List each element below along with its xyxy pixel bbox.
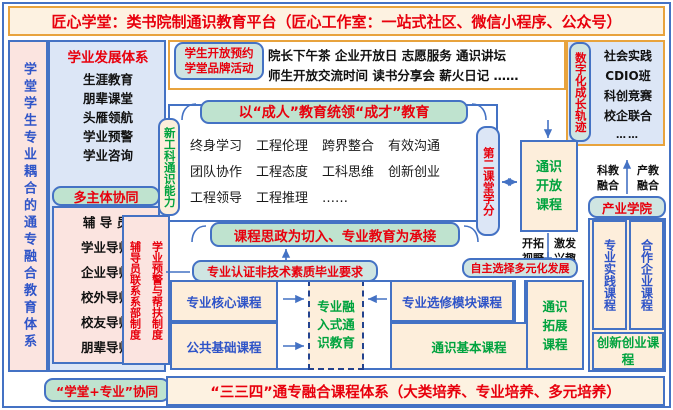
list-item: 学业咨询 [56,146,160,165]
competency-item: 工程推理 [256,186,308,212]
industry-college-col-right-label: 合作企业课程 [641,239,653,311]
footer-title: “三三四”通专融合课程体系（大类培养、专业培养、多元培养） [166,376,665,406]
industry-college-col-left: 专业实践课程 [592,220,627,330]
digital-track-label: 数字化成长轨迹 [574,52,586,133]
competency-row: 工程领导 工程推理 …… [190,186,482,212]
activities-text: 院长下午茶 企业开放日 志愿服务 通识讲坛 师生开放交流时间 读书分享会 薪火日… [268,44,564,88]
page-title: 匠心学堂：类书院制通识教育平台（匠心工作室：一站式社区、微信小程序、公众号） [8,6,665,36]
list-item: 朋辈课堂 [56,89,160,108]
activities-line1: 院长下午茶 企业开放日 志愿服务 通识讲坛 [268,46,506,66]
course-fusion: 专业融入式通识教育 [308,280,364,370]
second-classroom-label: 第二课堂学分 [482,147,494,216]
course-major-core: 专业核心课程 [170,280,278,322]
general-open-course-panel: 通识开放课程 [520,140,578,232]
general-open-course-label: 通识开放课程 [532,158,566,215]
fusion-label-right: 产教融合 [630,162,666,194]
industry-college-bottom: 创新创业课程 [592,332,664,370]
industry-college-bottom-label: 创新创业课程 [594,334,662,368]
arrow-gap-column-right [364,280,390,370]
list-item: 头雁领航 [56,108,160,127]
new-engineering-pill: 新工科通识能力 [158,118,180,216]
mentor-system-right-label-wrap: 学业预警与帮扶制度 [146,217,168,363]
practice-ellipsis: …… [616,126,640,146]
competency-item: 团队协作 [190,160,242,186]
list-item: 社会实践 [604,46,652,66]
course-general-extension: 通识拓展课程 [526,280,584,370]
industry-college-title: 产业学院 [588,196,666,218]
course-general-extension-label: 通识拓展课程 [537,297,573,354]
multi-subject-title: 多主体协同 [52,186,160,206]
list-item: 学业预警 [56,127,160,146]
competency-row: 终身学习 工程伦理 跨界整合 有效沟通 [190,134,482,160]
course-general-basic: 通识基本课程 [390,322,548,370]
competency-grid: 终身学习 工程伦理 跨界整合 有效沟通 团队协作 工程态度 工科思维 创新创业 … [190,130,482,216]
list-item: 科创竞赛 [604,86,652,106]
industry-college-col-right: 合作企业课程 [629,220,664,330]
competency-item: 工程伦理 [256,134,308,160]
competency-item: 有效沟通 [388,134,440,160]
industry-college-col-left-label: 专业实践课程 [604,239,616,311]
mentor-system-right-label: 学业预警与帮扶制度 [152,241,163,340]
practice-list: 社会实践 CDIO班 科创竞赛 校企联合 …… [594,43,662,143]
competency-item: 终身学习 [190,134,242,160]
open-booking-line1: 学生开放预约 [185,46,254,61]
activities-line2: 师生开放交流时间 读书分享会 薪火日记 …… [268,66,519,86]
course-major-elective-label: 专业选修模块课程 [402,292,502,311]
competency-item: …… [322,186,348,212]
open-booking-pill: 学生开放预约 学堂品牌活动 [174,42,264,80]
course-public-basic: 公共基础课程 [170,322,278,370]
competency-item: 工程领导 [190,186,242,212]
competency-item: 工程态度 [256,160,308,186]
academic-system-list: 生涯教育 朋辈课堂 头雁领航 学业预警 学业咨询 [56,70,160,170]
left-vertical-band: 学堂学生专业耦合的通专融合教育体系 [8,40,48,372]
open-booking-line2: 学堂品牌活动 [185,61,254,76]
accreditation-pill: 专业认证非技术素质毕业要求 [192,260,378,282]
academic-system-title: 学业发展体系 [56,46,160,66]
left-band-label: 学堂学生专业耦合的通专融合教育体系 [17,62,39,351]
mentor-system-left-label: 辅导员联系系部制度 [130,241,141,340]
course-public-basic-label: 公共基础课程 [186,337,261,356]
mentor-system-left-label-wrap: 辅导员联系系部制度 [124,217,146,363]
list-item: 生涯教育 [56,70,160,89]
new-engineering-label: 新工科通识能力 [163,127,175,208]
course-general-basic-label: 通识基本课程 [431,337,506,356]
list-item: CDIO班 [605,66,650,86]
course-major-core-label: 专业核心课程 [186,292,261,311]
course-major-elective: 专业选修模块课程 [390,280,514,322]
course-fusion-label: 专业融入式通识教育 [314,298,358,352]
fusion-label-left: 科教融合 [590,162,626,194]
competency-item: 跨界整合 [322,134,374,160]
diverse-development-pill: 自主选择多元化发展 [462,258,578,278]
core-banner: 以“成人”教育统领“成才”教育 [200,100,468,124]
competency-row: 团队协作 工程态度 工科思维 创新创业 [190,160,482,186]
digital-track-pill: 数字化成长轨迹 [569,42,591,142]
course-divider-column [514,280,526,322]
second-classroom-pill: 第二课堂学分 [476,126,500,236]
diagram-root: 匠心学堂：类书院制通识教育平台（匠心工作室：一站式社区、微信小程序、公众号） 学… [0,0,673,410]
competency-item: 创新创业 [388,160,440,186]
list-item: 校企联合 [604,106,652,126]
ideology-banner: 课程思政为切入、专业教育为承接 [210,222,460,247]
arrow-gap-column [278,280,308,370]
school-major-synergy-pill: “学堂+专业”协同 [44,378,170,402]
competency-item: 工科思维 [322,160,374,186]
